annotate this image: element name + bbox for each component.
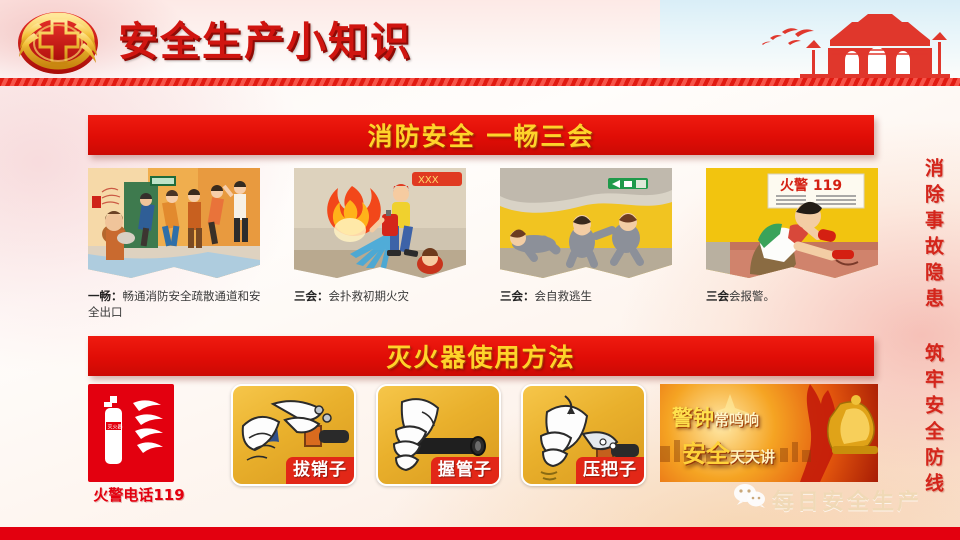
flame-glyph-icon [131,397,165,467]
illustration-card-row: XXX [88,168,878,280]
caption-3-text: 会自救逃生 [535,289,593,303]
fire-extinguisher-sign-icon: 灭火器 [88,384,174,482]
promo-line-1-rest: 常鸣响 [714,411,759,429]
promo-line-2-strong: 安全 [682,440,730,468]
section-banner-fire-safety: 消防安全 一畅三会 [88,115,874,155]
promo-banner[interactable]: 警钟常鸣响 安全天天讲 [660,384,878,482]
wechat-icon [733,483,767,509]
extinguisher-label: 灭火器 [108,425,123,431]
caption-4-key: 三会 [706,289,729,303]
illustration-card-3[interactable] [500,168,672,278]
illustration-card-2[interactable]: XXX [294,168,466,278]
caption-1: 一畅：畅通消防安全疏散通道和安全出口 [88,288,266,320]
caption-2: 三会：会扑救初期火灾 [294,288,474,304]
promo-line-1-strong: 警钟 [672,406,714,430]
illustration-card-4[interactable]: 火警 119 [706,168,878,278]
caption-3-key: 三会： [500,289,535,303]
safety-emblem-icon [8,7,112,77]
footer-bar [0,527,960,540]
caption-2-key: 三会： [294,289,329,303]
tiananmen-gate-icon [700,10,950,82]
svg-text:XXX: XXX [418,175,439,186]
caption-3: 三会：会自救逃生 [500,288,680,304]
caption-2-text: 会扑救初期火灾 [329,289,410,303]
promo-line-1: 警钟常鸣响 [672,402,759,432]
caption-row: 一畅：畅通消防安全疏散通道和安全出口 三会：会扑救初期火灾 三会：会自救逃生 三… [88,288,878,330]
extinguisher-glyph-icon: 灭火器 [101,396,126,468]
step-3-press-handle[interactable]: 压把子 [521,384,646,486]
promo-line-2-rest: 天天讲 [730,448,775,466]
page-header: 安全生产小知识 [0,0,960,86]
caption-1-key: 一畅： [88,289,123,303]
evacuation-corridor-scene [88,168,260,278]
vertical-slogan: 消除事故隐患 筑牢安全防线 [916,158,950,499]
step-2-hold-hose[interactable]: 握管子 [376,384,501,486]
caption-4-text: 会报警。 [729,289,775,303]
poster-canvas: 安全生产小知识 [0,0,960,540]
caption-4: 三会会报警。 [706,288,886,304]
promo-line-2: 安全天天讲 [682,434,775,469]
calling-119-scene: 火警 119 [706,168,878,278]
emergency-phone-label: 火警电话119 [84,484,194,505]
fire-extinguishing-scene: XXX [294,168,466,278]
illustration-card-1[interactable] [88,168,260,278]
banner-2-label: 灭火器使用方法 [386,338,575,374]
crawl-escape-scene [500,168,672,278]
header-stripe [0,78,960,86]
page-title: 安全生产小知识 [118,14,412,70]
step-2-label: 握管子 [431,457,499,484]
step-3-label: 压把子 [576,457,644,484]
banner-1-label: 消防安全 一畅三会 [368,117,595,153]
step-1-label: 拔销子 [286,457,354,484]
watermark-text: 每日安全生产 [772,484,922,516]
svg-text:火警 119: 火警 119 [780,177,842,194]
section-banner-extinguisher: 灭火器使用方法 [88,336,874,376]
step-1-pull-pin[interactable]: 拔销子 [231,384,356,486]
